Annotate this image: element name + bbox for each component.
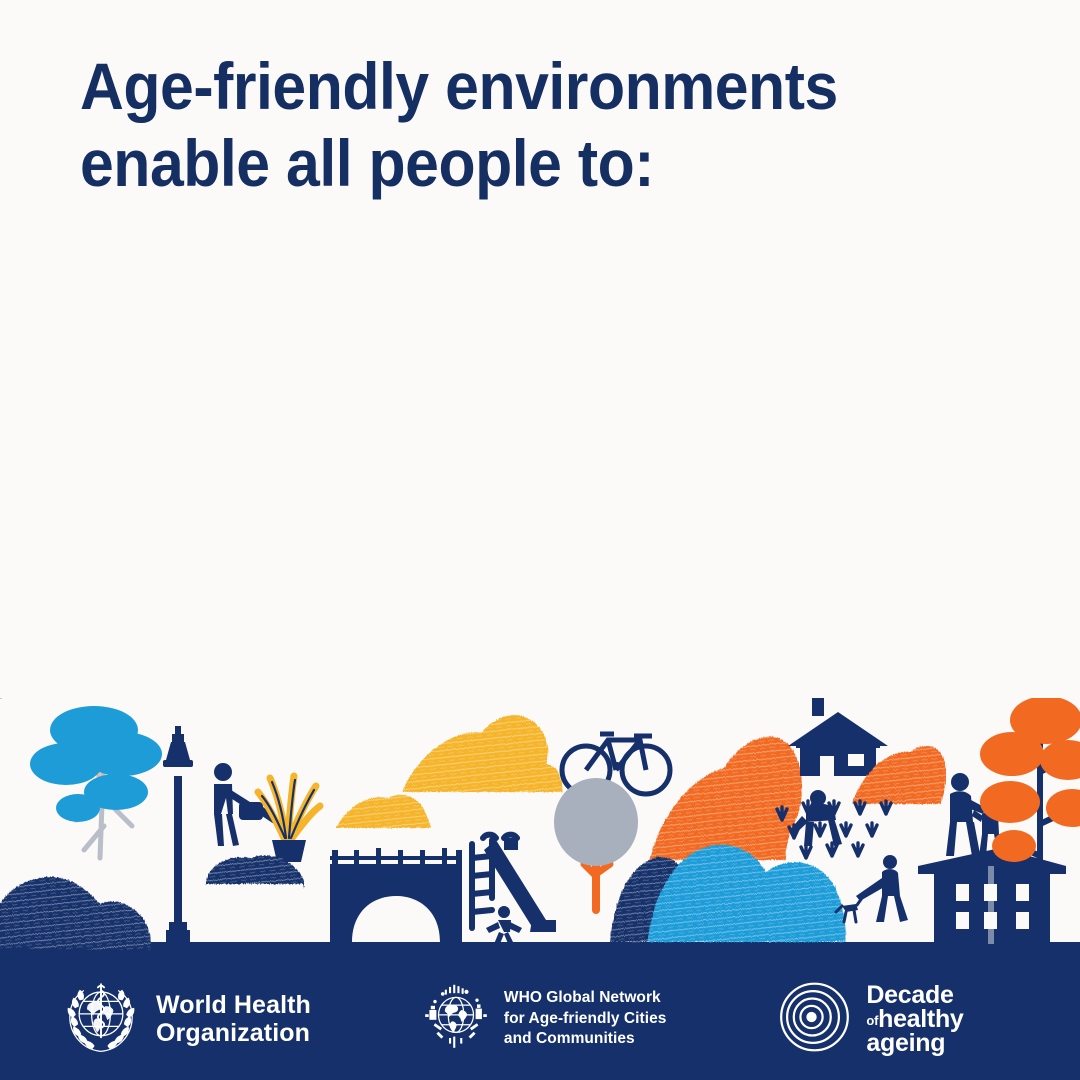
yellow-hill-large bbox=[402, 715, 562, 792]
orange-hill bbox=[650, 737, 802, 860]
navy-bush-left bbox=[0, 877, 151, 950]
person-walking-dog bbox=[856, 855, 908, 922]
apartment-building bbox=[918, 848, 1066, 944]
poster-card: Age-friendly environments enable all peo… bbox=[0, 0, 1080, 1080]
footer-bar: World Health Organization bbox=[0, 958, 1080, 1080]
decade-of-word: of bbox=[866, 1013, 878, 1028]
who-emblem-icon bbox=[62, 978, 140, 1061]
ground-strip bbox=[0, 942, 1080, 958]
decade-healthy-ageing-logo: Decade ofhealthy ageing bbox=[776, 980, 963, 1059]
stone-bridge bbox=[330, 848, 462, 942]
who-logo-text: World Health Organization bbox=[156, 991, 311, 1047]
who-logo: World Health Organization bbox=[62, 978, 311, 1061]
house bbox=[788, 698, 888, 776]
age-friendly-network-logo: WHO Global Network for Age-friendly Citi… bbox=[421, 982, 667, 1057]
page-title: Age-friendly environments enable all peo… bbox=[80, 48, 908, 202]
decade-line-1: Decade bbox=[866, 983, 963, 1007]
decade-line-3: ageing bbox=[866, 1031, 963, 1055]
globe-city-icon bbox=[421, 982, 491, 1057]
street-lamp bbox=[163, 726, 193, 942]
concentric-rings-icon bbox=[776, 980, 850, 1059]
blue-tree bbox=[30, 706, 162, 858]
network-logo-text: WHO Global Network for Age-friendly Citi… bbox=[504, 988, 667, 1051]
yellow-hill-small bbox=[336, 795, 431, 828]
illustration-band bbox=[0, 698, 1080, 958]
decade-line-2: ofhealthy bbox=[866, 1007, 963, 1031]
decade-logo-text: Decade ofhealthy ageing bbox=[866, 983, 963, 1055]
